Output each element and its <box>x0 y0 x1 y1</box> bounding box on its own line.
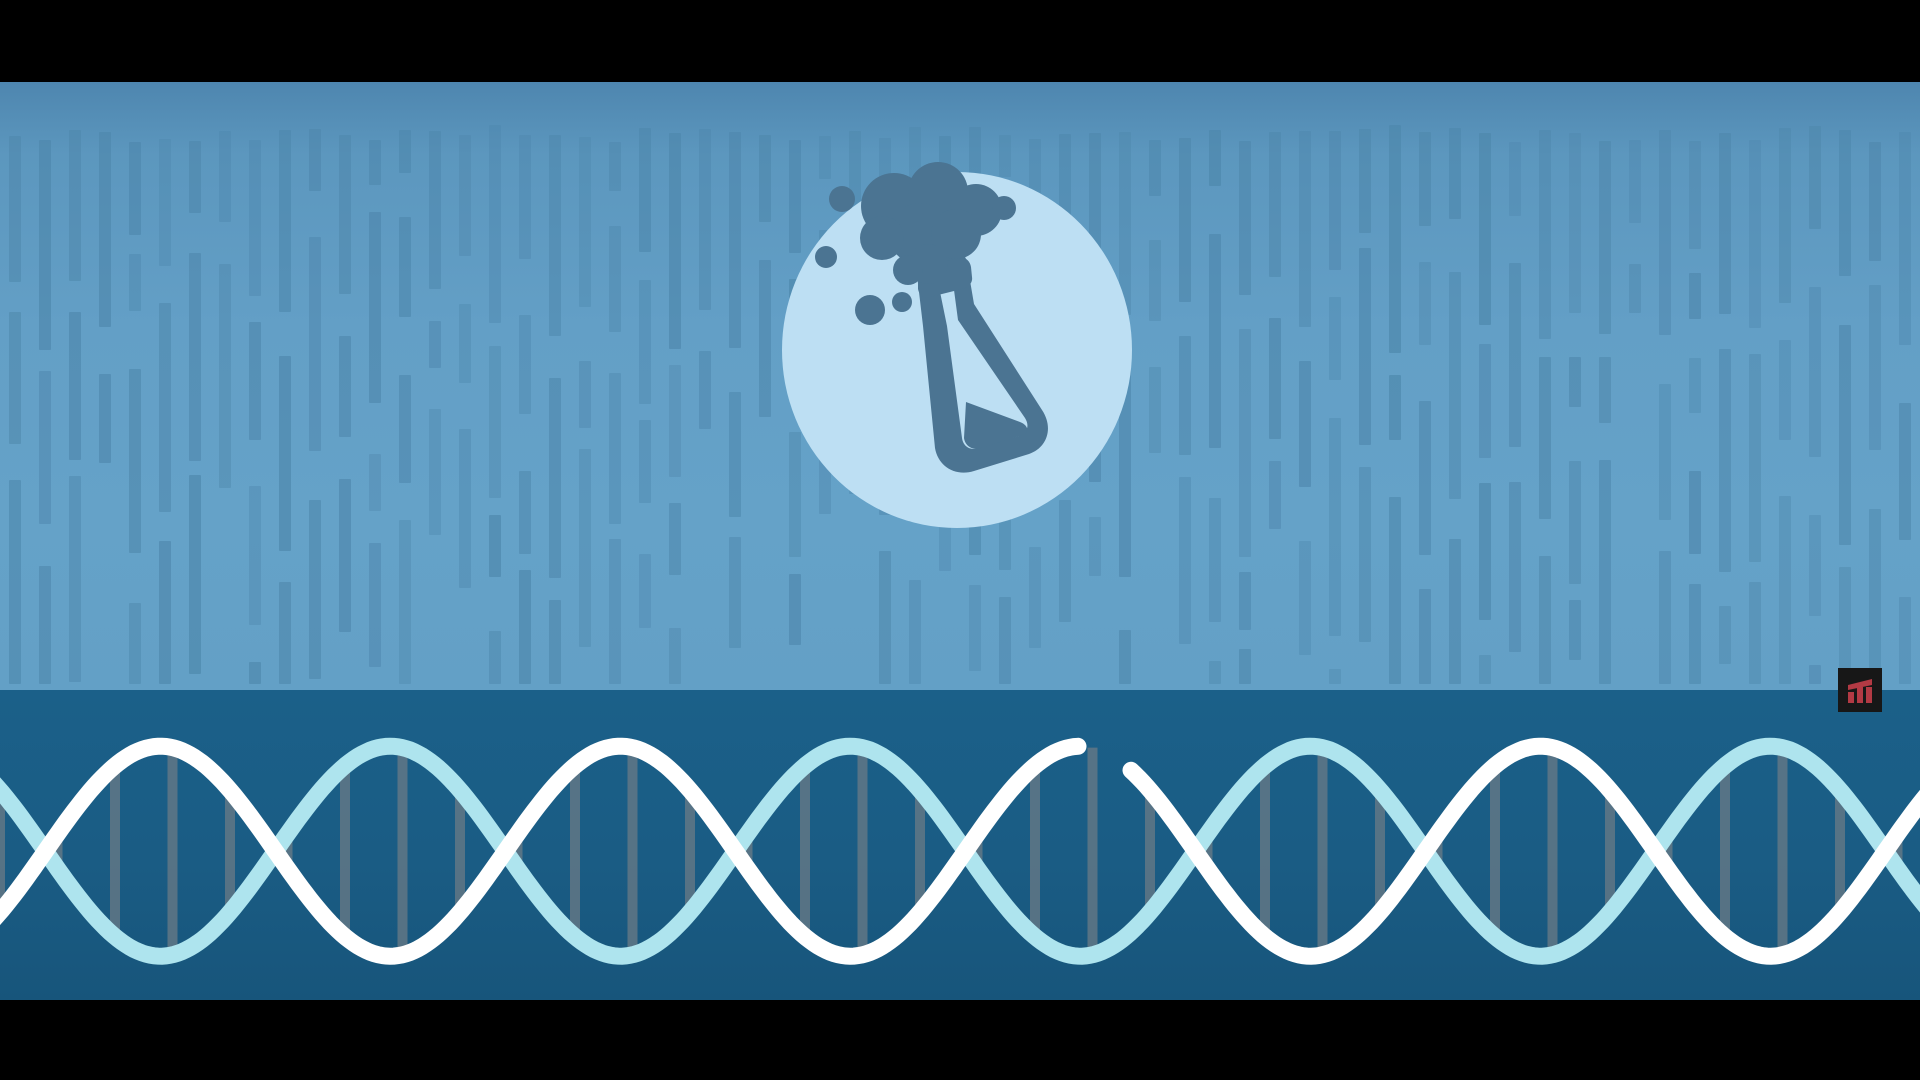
gel-bar <box>1749 582 1762 684</box>
video-frame <box>0 0 1920 1080</box>
gel-bar <box>1209 130 1222 186</box>
bubble-4 <box>855 295 885 325</box>
gel-bar <box>339 336 352 437</box>
gel-bar <box>1899 132 1912 345</box>
gel-bar <box>1659 551 1672 684</box>
gel-bar <box>1569 357 1582 408</box>
gel-bar <box>1389 497 1402 684</box>
gel-bar <box>369 454 382 511</box>
gel-bar <box>1239 329 1252 556</box>
gel-bar <box>279 130 292 313</box>
gel-bar <box>1479 483 1492 620</box>
gel-bar <box>1359 467 1372 642</box>
gel-bar <box>399 130 412 174</box>
gel-bar <box>1599 141 1612 334</box>
gel-bar <box>1419 262 1432 345</box>
gel-bar <box>1689 584 1702 684</box>
gel-bar <box>879 551 892 684</box>
gel-bar <box>1329 669 1342 684</box>
gel-bar <box>1539 357 1552 520</box>
bubble-3 <box>815 246 837 268</box>
gel-bar <box>1239 649 1252 684</box>
gel-bar <box>1179 336 1192 455</box>
gel-bar <box>1329 297 1342 380</box>
gel-bar <box>1719 349 1732 572</box>
letterbox-top <box>0 0 1920 82</box>
gel-bar <box>1629 140 1642 223</box>
gel-bar <box>369 140 382 185</box>
gel-bar <box>969 585 982 671</box>
gel-bar <box>789 574 802 646</box>
gel-bar <box>159 139 172 266</box>
gel-bar <box>1269 132 1282 277</box>
gel-bar <box>1299 541 1312 655</box>
gel-bar <box>1719 606 1732 664</box>
gel-bar <box>519 471 532 555</box>
gel-bar <box>669 628 682 684</box>
gel-bar <box>1479 133 1492 326</box>
gel-bar <box>519 135 532 259</box>
gel-bar <box>69 312 82 460</box>
gel-bar <box>1779 340 1792 440</box>
gel-bar <box>489 125 502 323</box>
gel-bar <box>1839 325 1852 545</box>
gel-bar <box>1449 128 1462 219</box>
gel-bar <box>519 315 532 414</box>
smoke-blob-6 <box>860 216 904 260</box>
gel-bar <box>1119 630 1132 684</box>
gel-bar <box>729 392 742 517</box>
bubble-2 <box>992 196 1016 220</box>
gel-bar <box>459 304 472 383</box>
gel-bar <box>609 539 622 684</box>
gel-bar <box>1569 600 1582 660</box>
gel-bar <box>9 312 22 444</box>
gel-bar <box>1689 471 1702 554</box>
gel-bar <box>429 409 442 535</box>
gel-bar <box>1749 354 1762 561</box>
gel-bar <box>669 133 682 349</box>
gel-bar <box>1779 128 1792 303</box>
gel-bar <box>1809 665 1822 684</box>
gel-bar <box>249 322 262 439</box>
gel-bar <box>69 130 82 281</box>
gel-bar <box>399 217 412 317</box>
gel-bar <box>129 254 142 311</box>
gel-bar <box>99 374 112 463</box>
gel-bar <box>1389 375 1402 440</box>
gel-bar <box>1659 384 1672 520</box>
gel-bar <box>639 420 652 503</box>
gel-bar <box>1899 403 1912 540</box>
gel-bar <box>609 373 622 524</box>
gel-bar <box>639 128 652 252</box>
gel-bar <box>1779 496 1792 684</box>
gel-bar <box>159 303 172 512</box>
gel-bar <box>279 356 292 551</box>
gel-bar <box>429 321 442 368</box>
gel-bar <box>1689 273 1702 318</box>
gel-bar <box>1479 344 1492 458</box>
gel-bar <box>699 129 712 310</box>
gel-bar <box>669 503 682 576</box>
gel-bar <box>1869 509 1882 677</box>
gel-bar <box>399 375 412 483</box>
gel-bar <box>369 543 382 667</box>
gel-bar <box>9 480 22 684</box>
gel-bar <box>1329 131 1342 271</box>
gel-bar <box>549 135 562 336</box>
gel-bar <box>1569 461 1582 584</box>
gel-bar <box>309 129 322 191</box>
gel-bar <box>579 449 592 647</box>
lower-band-dna-background <box>0 690 1920 1000</box>
gel-bar <box>1569 133 1582 313</box>
gel-bar <box>99 132 112 328</box>
gel-bar <box>1299 361 1312 488</box>
gel-bar <box>1509 142 1522 216</box>
dna-double-helix <box>0 690 1920 1000</box>
smoke-blob-8 <box>893 255 923 285</box>
gel-bar <box>1809 515 1822 616</box>
gel-bar <box>339 479 352 632</box>
gel-bar <box>129 369 142 553</box>
gel-bar <box>1209 498 1222 621</box>
gel-bar <box>1269 461 1282 529</box>
gel-bar <box>1329 418 1342 636</box>
gel-bar <box>1599 460 1612 685</box>
gel-bar <box>1689 141 1702 249</box>
gel-bar <box>1419 401 1432 555</box>
gel-bar <box>609 226 622 331</box>
gel-bar <box>159 541 172 684</box>
gel-bar <box>9 136 22 283</box>
gel-bar <box>579 137 592 307</box>
gel-bar <box>1209 661 1222 684</box>
gel-bar <box>1599 357 1612 423</box>
gel-bar <box>189 253 202 460</box>
gel-bar <box>519 570 532 684</box>
gel-bar <box>1509 482 1522 652</box>
flask-badge-svg <box>742 130 1172 570</box>
gel-bar <box>1839 130 1852 276</box>
gel-bar <box>309 500 322 679</box>
gel-bar <box>1479 655 1492 684</box>
gel-bar <box>1179 138 1192 302</box>
gel-bar <box>1539 130 1552 339</box>
gel-bar <box>1629 264 1642 314</box>
gel-bar <box>1209 234 1222 448</box>
gel-bar <box>1809 287 1822 457</box>
gel-bar <box>1689 358 1702 414</box>
gel-bar <box>1419 132 1432 226</box>
bar-chart-logo-icon <box>1845 676 1875 706</box>
gel-bar <box>729 537 742 648</box>
video-content[interactable] <box>0 82 1920 1000</box>
gel-bar <box>459 429 472 588</box>
gel-bar <box>249 486 262 625</box>
gel-bar <box>1359 129 1372 233</box>
gel-bar <box>1449 539 1462 684</box>
gel-bar <box>1539 556 1552 685</box>
gel-bar <box>189 475 202 673</box>
gel-bar <box>39 566 52 685</box>
gel-bar <box>699 351 712 429</box>
gel-bar <box>399 520 412 684</box>
gel-bar <box>1299 131 1312 327</box>
gel-bar <box>1359 248 1372 446</box>
gel-bar <box>1749 140 1762 328</box>
gel-bar <box>339 135 352 295</box>
gel-bar <box>1899 597 1912 684</box>
gel-bar <box>129 142 142 235</box>
gel-bar <box>429 131 442 289</box>
gel-bar <box>249 140 262 296</box>
gel-bar <box>1239 572 1252 631</box>
gel-bar <box>549 600 562 684</box>
gel-bar <box>129 603 142 684</box>
gel-bar <box>39 140 52 350</box>
gel-bar <box>579 361 592 428</box>
bubble-1 <box>829 186 855 212</box>
gel-bar <box>1419 589 1432 684</box>
gel-bar <box>1869 142 1882 261</box>
gel-bar <box>489 631 502 684</box>
gel-bar <box>729 132 742 348</box>
letterbox-bottom <box>0 1000 1920 1080</box>
gel-bar <box>1509 263 1522 448</box>
gel-bar <box>39 371 52 525</box>
gel-bar <box>489 515 502 578</box>
gel-bar <box>1269 318 1282 439</box>
gel-bar <box>639 554 652 628</box>
gel-bar <box>1179 477 1192 644</box>
gel-bar <box>1809 126 1822 230</box>
gel-bar <box>1719 133 1732 314</box>
gel-bar <box>1389 125 1402 353</box>
gel-bar <box>1239 141 1252 294</box>
gel-bar <box>489 346 502 498</box>
gel-bar <box>1839 567 1852 684</box>
channel-watermark[interactable] <box>1838 668 1882 712</box>
gel-bar <box>369 212 382 403</box>
gel-bar <box>279 582 292 684</box>
gel-bar <box>609 142 622 191</box>
gel-bar <box>549 378 562 578</box>
gel-bar <box>909 580 922 684</box>
bubble-5 <box>892 292 912 312</box>
gel-bar <box>309 237 322 451</box>
gel-bar <box>459 135 472 256</box>
gel-bar <box>669 365 682 477</box>
gel-bar <box>249 662 262 684</box>
gel-bar <box>1869 285 1882 450</box>
gel-bar <box>219 131 232 222</box>
gel-bar <box>1659 130 1672 335</box>
gel-bar <box>1449 272 1462 499</box>
gel-bar <box>189 141 202 213</box>
gel-bar <box>219 264 232 488</box>
gel-bar <box>639 280 652 404</box>
gel-bar <box>69 476 82 682</box>
gel-bar <box>999 597 1012 684</box>
chemistry-flask-badge[interactable] <box>742 130 1172 570</box>
